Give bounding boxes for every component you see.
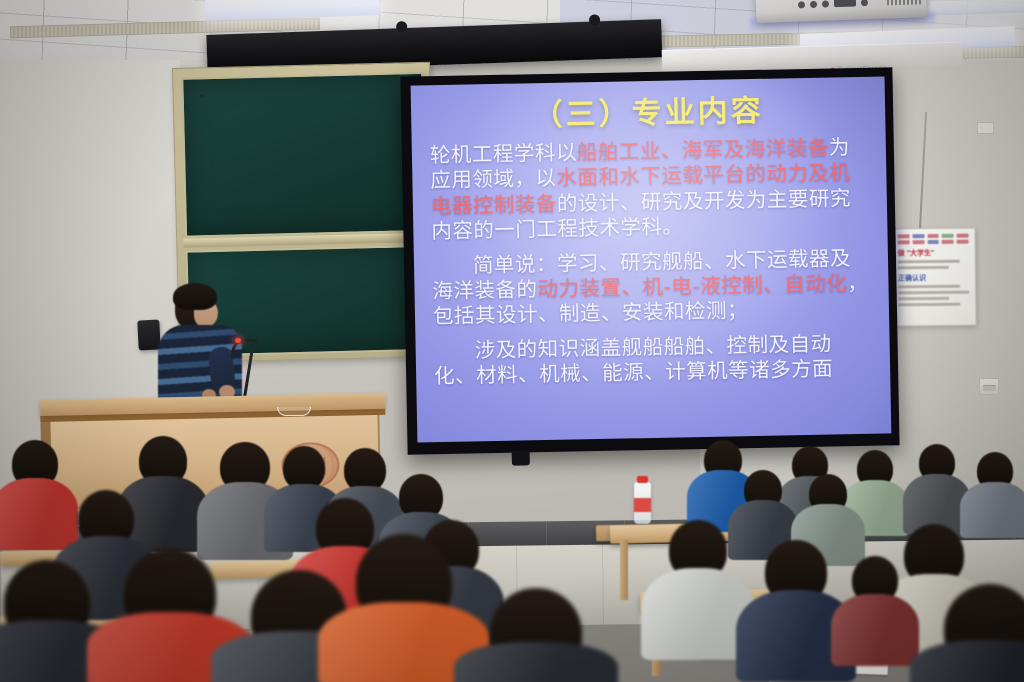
slide-content: （三）专业内容 轮机工程学科以船舶工业、海军及海洋装备为应用领域，以水面和水下运… bbox=[411, 76, 892, 442]
poster-title-line-1: 做 "大学生" bbox=[898, 248, 969, 259]
slide-title: （三）专业内容 bbox=[429, 93, 868, 134]
wall-junction-box bbox=[977, 122, 994, 134]
poster-header-chips bbox=[898, 234, 969, 239]
poster-header-chips bbox=[898, 240, 969, 245]
instructor-hair bbox=[173, 283, 217, 310]
student bbox=[748, 540, 844, 682]
student bbox=[908, 444, 966, 534]
wall-outlet bbox=[979, 378, 999, 395]
student-dark-top bbox=[454, 642, 618, 682]
bottle-cap bbox=[637, 476, 648, 483]
slide-run-highlight: 船舶工业、海军及海洋装备 bbox=[577, 136, 829, 165]
bottle-label bbox=[634, 498, 651, 512]
slide-run-highlight: 动力装置、机-电-液控制、自动化 bbox=[537, 271, 847, 301]
screen-pull-handle bbox=[512, 450, 530, 465]
desk-leg bbox=[620, 540, 628, 600]
slide-run-text: 轮机工程学科以 bbox=[430, 140, 577, 167]
chalkboard-screw bbox=[200, 94, 204, 98]
poster-title-line-2: 正确认识 bbox=[898, 273, 969, 284]
slide-paragraph-2: 简单说：学习、研究舰船、水下运载器及海洋装备的动力装置、机-电-液控制、自动化，… bbox=[432, 245, 871, 330]
student bbox=[840, 556, 910, 666]
slide-paragraph-1: 轮机工程学科以船舶工业、海军及海洋装备为应用领域，以水面和水下运载平台的动力及机… bbox=[430, 135, 870, 245]
housing-mount bbox=[589, 14, 600, 25]
slide-paragraph-3: 涉及的知识涵盖舰船船舶、控制及自动化、材料、机械、能源、计算机等诸多方面 bbox=[433, 331, 872, 390]
microphone-indicator-light bbox=[235, 338, 241, 343]
water-glass bbox=[277, 407, 311, 416]
projection-screen: （三）专业内容 轮机工程学科以船舶工业、海军及海洋装备为应用领域，以水面和水下运… bbox=[400, 67, 899, 454]
student-dark-top bbox=[910, 640, 1024, 682]
chalkboard-panel-upper bbox=[181, 72, 427, 238]
projected-slide: （三）专业内容 轮机工程学科以船舶工业、海军及海洋装备为应用领域，以水面和水下运… bbox=[411, 76, 892, 442]
housing-mount bbox=[396, 21, 407, 32]
water-bottle bbox=[634, 482, 651, 524]
student bbox=[920, 584, 1024, 682]
slide-run-text: 涉及的知识涵盖舰船船舶、控制及自动化、材料、机械、能源、计算机等诸多方面 bbox=[434, 331, 833, 388]
student-maroon-top bbox=[831, 594, 919, 666]
student bbox=[652, 520, 744, 660]
lecture-hall-photo: ProjectScreen 做 "大学生" 正确认识 （三）专业内容 bbox=[0, 0, 1024, 682]
student bbox=[0, 440, 70, 550]
student bbox=[466, 588, 606, 682]
